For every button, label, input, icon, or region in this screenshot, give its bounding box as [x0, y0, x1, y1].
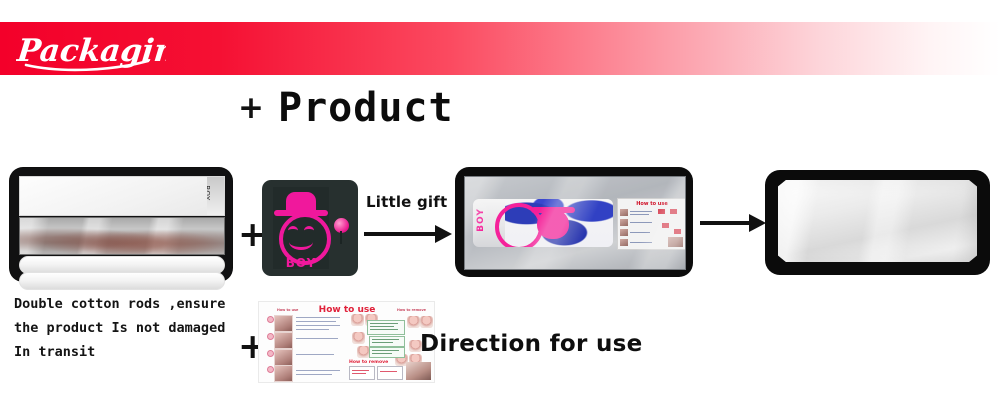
- product-heading: + Product: [238, 88, 454, 128]
- sheet-thumb: [620, 229, 628, 236]
- manual-footer-photo: [406, 362, 431, 380]
- manual-callout-line: [372, 350, 399, 351]
- manual-figure: [420, 316, 433, 328]
- cotton-rod-package-image: BOY: [10, 168, 232, 281]
- sheet-text-line: [630, 222, 652, 223]
- caption-line-1: Double cotton rods ,ensure: [14, 292, 250, 316]
- gift-hat-crown-icon: [286, 192, 316, 212]
- sheet-figure: [670, 209, 677, 214]
- gift-brand-label: BOY: [276, 256, 326, 270]
- arrow-to-packed-set: [364, 224, 452, 244]
- sheet-text-line: [630, 214, 649, 215]
- arrow-head: [749, 214, 766, 232]
- arrow-shaft: [700, 221, 750, 225]
- rod-pink-blob-icon: [537, 209, 569, 239]
- sheet-text-line: [630, 242, 652, 243]
- sheet-figure: [674, 229, 681, 234]
- manual-text-line: [296, 321, 336, 322]
- manual-step-bullet: [267, 366, 274, 373]
- gift-rose-stem: [340, 231, 342, 244]
- sheet-thumb: [620, 239, 628, 246]
- manual-step-photo: [274, 315, 293, 332]
- manual-text-line: [296, 317, 340, 318]
- package-side-tag: BOY: [207, 177, 224, 215]
- packed-set-image: BOY How to use: [455, 167, 693, 277]
- manual-subtitle-left: How to use: [277, 308, 298, 312]
- manual-callout-line: [370, 326, 394, 327]
- manual-text-line: [296, 325, 340, 326]
- manual-subtitle-right: How to remove: [397, 308, 426, 312]
- manual-step-bullet: [267, 333, 274, 340]
- manual-callout-line: [372, 339, 399, 340]
- manual-remove-box: [377, 366, 403, 380]
- cotton-rod-lower: [19, 272, 225, 290]
- sheet-thumb: [620, 219, 628, 226]
- heading-plus-icon: +: [238, 93, 264, 124]
- manual-step-photo: [274, 332, 293, 349]
- arrow-shaft: [364, 232, 436, 236]
- package-transparent-window: [19, 217, 225, 255]
- page-title: Product: [278, 88, 454, 128]
- manual-remove-line: [352, 370, 369, 371]
- manual-text-line: [296, 338, 338, 339]
- gift-smile-icon: [289, 234, 313, 250]
- manual-callout-line: [370, 323, 398, 324]
- manual-remove-line: [380, 371, 397, 372]
- packaging-logo: Packaging: [16, 24, 166, 76]
- little-gift-image: BOY: [262, 180, 358, 276]
- instruction-manual-image: How to use How to use How to remove How …: [258, 301, 435, 383]
- package-white-strip: BOY: [19, 176, 225, 216]
- instruction-sheet-title: How to use: [618, 201, 686, 207]
- manual-remove-line: [352, 373, 366, 374]
- svg-text:Packaging: Packaging: [16, 33, 166, 69]
- manual-figure: [351, 314, 364, 326]
- sealed-white-bag-image: [765, 170, 990, 275]
- manual-step-bullet: [267, 316, 274, 323]
- manual-callout-line: [372, 342, 393, 343]
- clear-plastic-bag: BOY How to use: [464, 176, 686, 270]
- package-side-tag-label: BOY: [207, 185, 211, 201]
- arrow-head: [435, 225, 452, 243]
- manual-callout-line: [372, 353, 392, 354]
- cotton-rod-caption: Double cotton rods ,ensure the product I…: [14, 292, 250, 364]
- manual-step-bullet: [267, 350, 274, 357]
- sheet-figure: [658, 209, 665, 214]
- caption-line-3: In transit: [14, 340, 250, 364]
- sealed-bag: [778, 180, 977, 262]
- arrow-to-sealed-bag: [700, 213, 766, 233]
- instruction-sheet-small: How to use: [617, 198, 686, 250]
- sheet-text-line: [630, 232, 650, 233]
- direction-for-use-label: Direction for use: [420, 331, 643, 357]
- manual-text-line: [296, 370, 340, 371]
- manual-figure: [407, 316, 420, 328]
- sheet-figure: [662, 223, 669, 228]
- manual-step-photo: [274, 365, 293, 382]
- rod-brand-label: BOY: [476, 208, 486, 232]
- sheet-text-line: [630, 211, 652, 212]
- little-gift-label: Little gift: [366, 193, 447, 211]
- manual-text-line: [296, 329, 329, 330]
- product-rod: BOY: [473, 199, 613, 247]
- manual-figure: [352, 332, 365, 344]
- packaging-script-text: Packaging: [16, 27, 166, 73]
- sheet-thumb: [620, 209, 628, 216]
- manual-text-line: [296, 354, 334, 355]
- sheet-thumb: [668, 237, 683, 247]
- caption-line-2: the product Is not damaged: [14, 316, 250, 340]
- manual-text-line: [296, 374, 332, 375]
- manual-callout-line: [370, 329, 398, 330]
- manual-remove-title: How to remove: [349, 360, 388, 365]
- manual-step-photo: [274, 349, 293, 366]
